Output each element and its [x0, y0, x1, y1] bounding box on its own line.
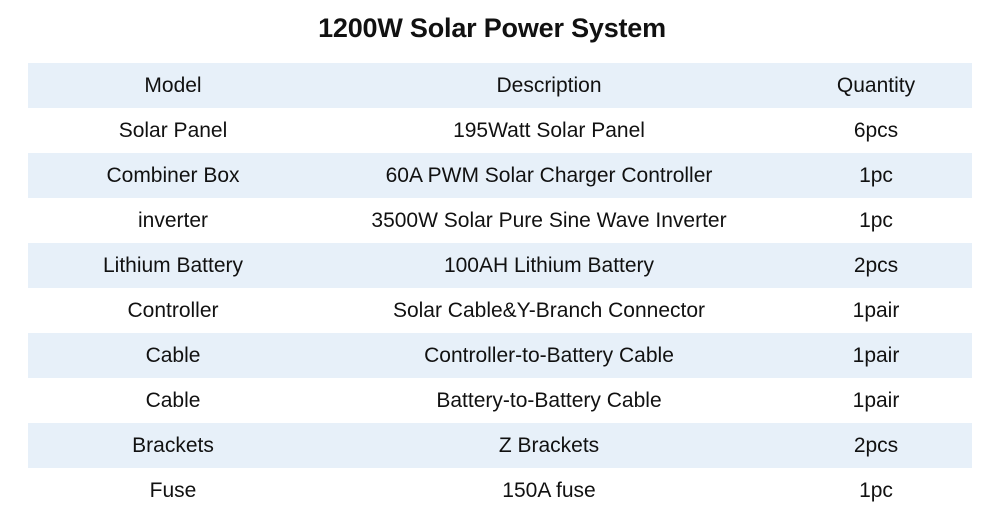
cell-description: 195Watt Solar Panel — [318, 108, 780, 153]
cell-description: 150A fuse — [318, 468, 780, 513]
cell-model: Lithium Battery — [28, 243, 318, 288]
table-row: Lithium Battery100AH Lithium Battery2pcs — [28, 243, 972, 288]
spec-sheet-page: 1200W Solar Power System Model Descripti… — [0, 0, 984, 526]
cell-model: inverter — [28, 198, 318, 243]
cell-quantity: 1pair — [780, 378, 972, 423]
cell-description: 100AH Lithium Battery — [318, 243, 780, 288]
cell-model: Cable — [28, 378, 318, 423]
cell-model: Controller — [28, 288, 318, 333]
table-row: ControllerSolar Cable&Y-Branch Connector… — [28, 288, 972, 333]
cell-description: Solar Cable&Y-Branch Connector — [318, 288, 780, 333]
cell-model: Cable — [28, 333, 318, 378]
table-row: CableBattery-to-Battery Cable1pair — [28, 378, 972, 423]
table-row: Fuse150A fuse1pc — [28, 468, 972, 513]
table-row: CableController-to-Battery Cable1pair — [28, 333, 972, 378]
column-header-quantity: Quantity — [780, 63, 972, 108]
page-title: 1200W Solar Power System — [0, 10, 984, 46]
cell-description: Controller-to-Battery Cable — [318, 333, 780, 378]
cell-description: Z Brackets — [318, 423, 780, 468]
table-header: Model Description Quantity — [28, 63, 972, 108]
cell-quantity: 2pcs — [780, 423, 972, 468]
cell-quantity: 1pair — [780, 288, 972, 333]
cell-quantity: 1pc — [780, 198, 972, 243]
cell-description: 60A PWM Solar Charger Controller — [318, 153, 780, 198]
table-body: Solar Panel195Watt Solar Panel6pcsCombin… — [28, 108, 972, 513]
table-row: BracketsZ Brackets2pcs — [28, 423, 972, 468]
cell-quantity: 1pc — [780, 468, 972, 513]
cell-quantity: 6pcs — [780, 108, 972, 153]
cell-model: Brackets — [28, 423, 318, 468]
table-row: inverter3500W Solar Pure Sine Wave Inver… — [28, 198, 972, 243]
cell-description: Battery-to-Battery Cable — [318, 378, 780, 423]
table-header-row: Model Description Quantity — [28, 63, 972, 108]
column-header-model: Model — [28, 63, 318, 108]
cell-model: Fuse — [28, 468, 318, 513]
table-row: Combiner Box60A PWM Solar Charger Contro… — [28, 153, 972, 198]
column-header-description: Description — [318, 63, 780, 108]
table-row: Solar Panel195Watt Solar Panel6pcs — [28, 108, 972, 153]
cell-quantity: 1pc — [780, 153, 972, 198]
cell-model: Solar Panel — [28, 108, 318, 153]
product-spec-table: Model Description Quantity Solar Panel19… — [28, 63, 972, 513]
cell-model: Combiner Box — [28, 153, 318, 198]
cell-quantity: 2pcs — [780, 243, 972, 288]
cell-quantity: 1pair — [780, 333, 972, 378]
cell-description: 3500W Solar Pure Sine Wave Inverter — [318, 198, 780, 243]
